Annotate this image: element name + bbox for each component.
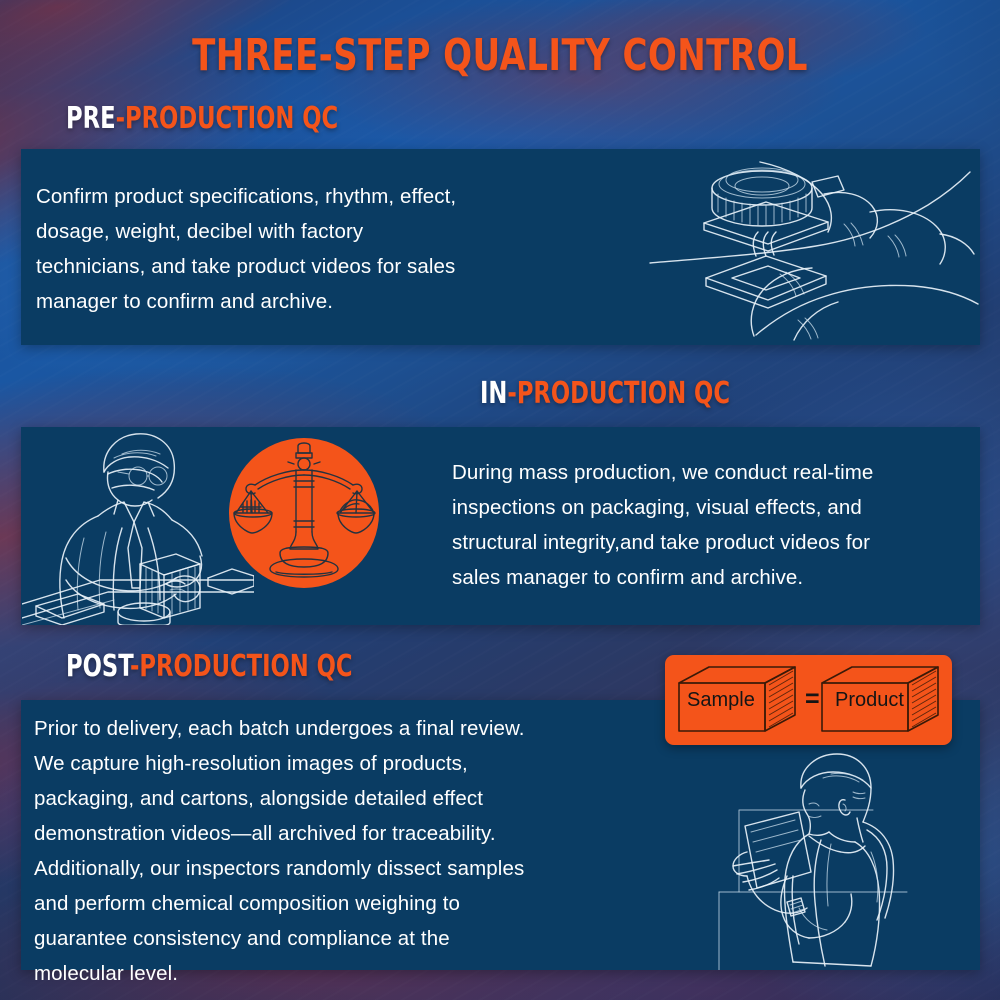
infographic-poster: THREE-STEP QUALITY CONTROL PRE-PRODUCTIO… (0, 0, 1000, 1000)
step-1-heading-orange: -PRODUCTION QC (116, 101, 339, 136)
step-3-heading-orange: -PRODUCTION QC (130, 649, 353, 684)
step-2-heading-orange: -PRODUCTION QC (507, 376, 730, 411)
step-3-heading-white: POST (66, 649, 130, 684)
step-3-body-text: Prior to delivery, each batch undergoes … (34, 711, 664, 991)
balance-scale-icon (228, 437, 380, 589)
page-title: THREE-STEP QUALITY CONTROL (70, 34, 930, 78)
badge-product-label: Product (835, 689, 904, 712)
step-1-heading: PRE-PRODUCTION QC (66, 104, 338, 134)
badge-sample-label: Sample (687, 689, 755, 712)
step-1-body-text: Confirm product specifications, rhythm, … (36, 179, 596, 319)
badge-equals-sign: = (805, 685, 820, 714)
sample-equals-product-badge: Sample = Product (665, 655, 952, 745)
step-2-heading-white: IN (480, 376, 507, 411)
hand-holding-product-icon (648, 150, 980, 345)
step-2-heading: IN-PRODUCTION QC (480, 379, 730, 409)
step-2-body-text: During mass production, we conduct real-… (452, 455, 980, 595)
step-3-heading: POST-PRODUCTION QC (66, 652, 353, 682)
step-1-heading-white: PRE (66, 101, 116, 136)
worker-inspecting-products-icon (22, 428, 254, 625)
inspector-with-tablet-icon (695, 748, 985, 970)
